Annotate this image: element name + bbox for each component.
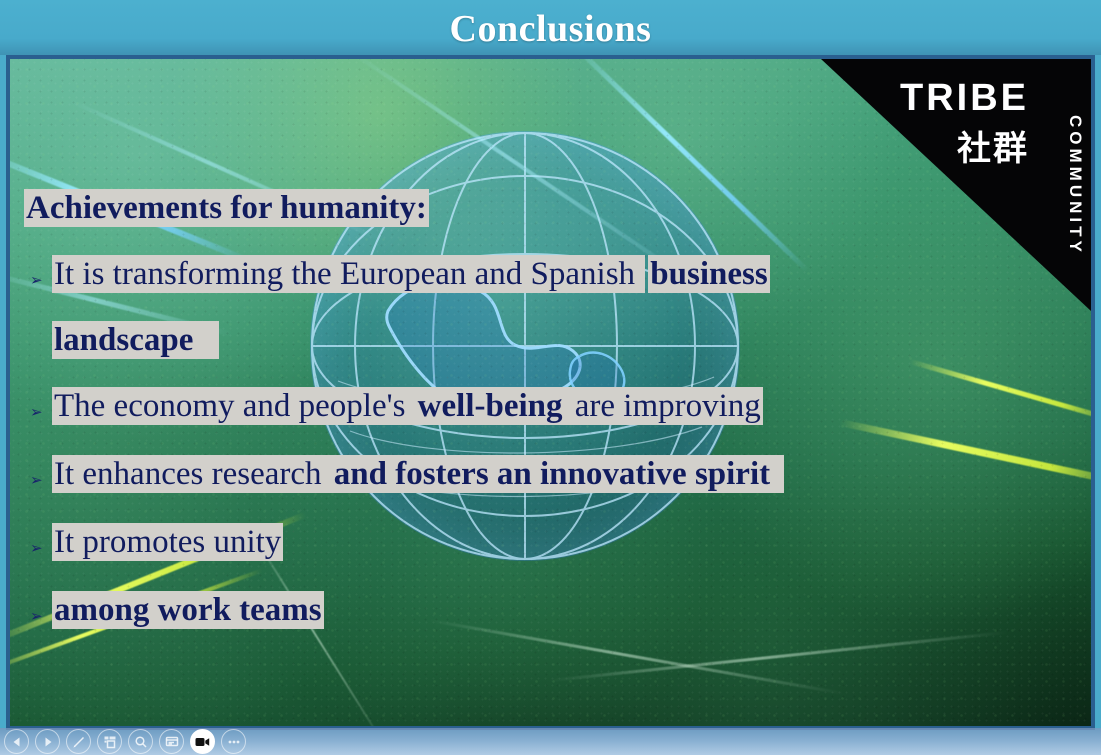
video-camera-icon: [194, 735, 211, 749]
list-item-text: It enhances research and fosters an inno…: [52, 455, 784, 495]
bullet-4-continuation: among work teams: [54, 592, 322, 628]
bullet-1-continuation: landscape: [54, 322, 193, 358]
presenter-view-button[interactable]: [159, 729, 184, 754]
bullet-3-bold: and fosters an innovative spirit: [334, 456, 770, 492]
bullet-arrow-icon: ➢: [30, 405, 52, 420]
slide-heading-text: Achievements for humanity:: [24, 189, 429, 227]
bullet-2-plain-a: The economy and people's: [52, 387, 416, 425]
pen-icon: [71, 734, 87, 750]
bullet-3-plain: It enhances research: [52, 455, 332, 493]
bullet-arrow-icon: ➢: [30, 473, 52, 488]
list-item: ➢ It enhances research and fosters an in…: [20, 455, 784, 495]
bullet-arrow-icon: ➢: [30, 609, 52, 624]
ellipsis-icon: [226, 734, 242, 750]
record-button[interactable]: [190, 729, 215, 754]
magnifier-icon: [133, 734, 149, 750]
pen-tool-button[interactable]: [66, 729, 91, 754]
bullet-1-plain: It is transforming the European and Span…: [52, 255, 645, 293]
page-title: Conclusions: [450, 10, 652, 48]
list-item-text: The economy and people's well-being are …: [52, 387, 763, 427]
list-item-text: It promotes unity: [52, 523, 283, 563]
list-item-text: landscape: [52, 321, 219, 361]
list-item: ➢ The economy and people's well-being ar…: [20, 387, 763, 427]
slide-canvas: TRIBE 社群 COMMUNITY Achievements for huma…: [6, 55, 1095, 730]
bullet-1-bold: business: [650, 256, 767, 292]
bullet-2-bold: well-being: [418, 388, 563, 424]
bullet-arrow-icon: ➢: [30, 273, 52, 288]
more-options-button[interactable]: [221, 729, 246, 754]
triangle-right-icon: [41, 735, 55, 749]
list-item-text: It is transforming the European and Span…: [52, 255, 770, 295]
window-icon: [164, 734, 180, 750]
slide-heading: Achievements for humanity:: [24, 189, 429, 228]
list-item-continuation: landscape: [52, 321, 219, 361]
next-slide-button[interactable]: [35, 729, 60, 754]
slide-header-bar: Conclusions: [0, 0, 1101, 55]
bullet-2-plain-b: are improving: [565, 387, 763, 425]
list-item: ➢ It is transforming the European and Sp…: [20, 255, 770, 295]
layout-grid-icon: [102, 734, 118, 750]
list-item: ➢ It promotes unity: [20, 523, 283, 563]
layout-button[interactable]: [97, 729, 122, 754]
previous-slide-button[interactable]: [4, 729, 29, 754]
presentation-toolbar: [0, 728, 1101, 755]
list-item-text: among work teams: [52, 591, 324, 631]
bullet-arrow-icon: ➢: [30, 541, 52, 556]
bullet-4-plain: It promotes unity: [52, 523, 283, 561]
list-item-continuation: ➢ among work teams: [20, 591, 324, 631]
slide-text-content: Achievements for humanity: ➢ It is trans…: [10, 59, 1091, 726]
triangle-left-icon: [10, 735, 24, 749]
zoom-button[interactable]: [128, 729, 153, 754]
